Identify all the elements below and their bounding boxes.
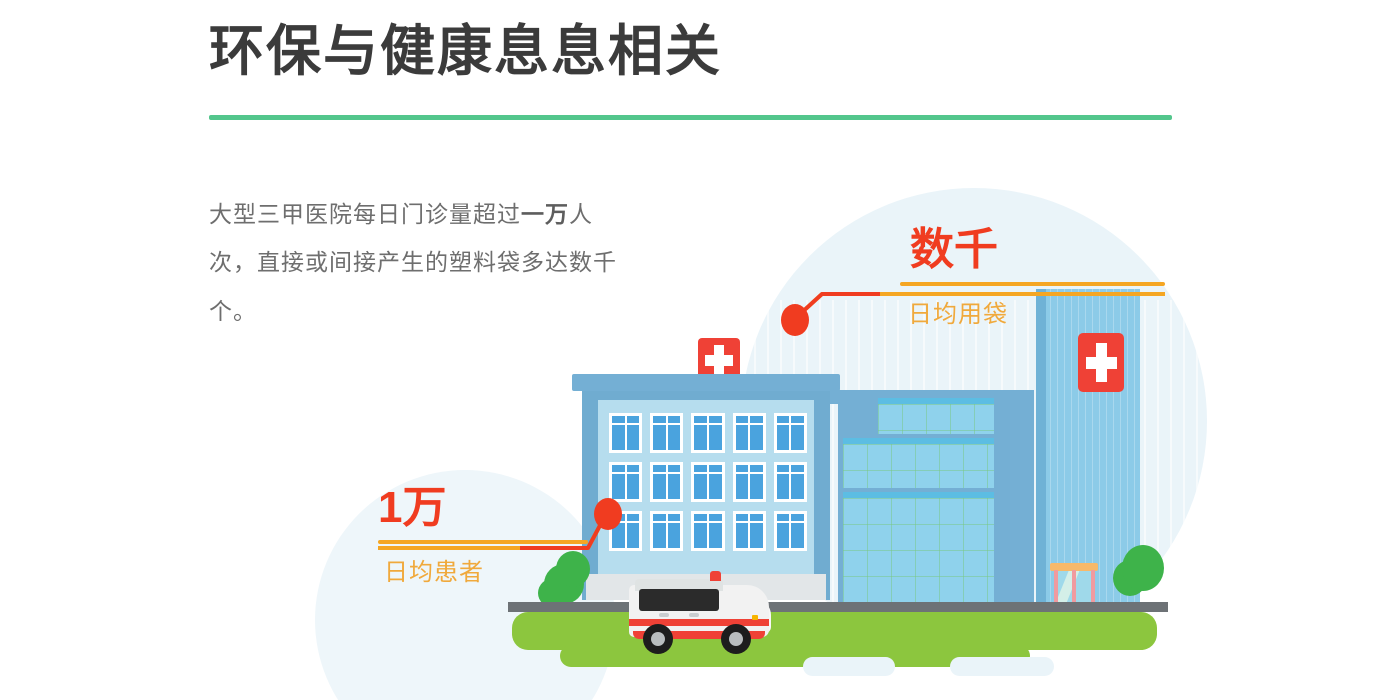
- hospital-illustration: [0, 0, 1400, 700]
- building-window: [733, 462, 766, 502]
- building-window: [733, 511, 766, 551]
- glass-panel-bottom: [843, 492, 994, 609]
- ambulance-door-handle: [659, 613, 669, 617]
- glass-panel-middle: [843, 438, 994, 488]
- ambulance-siren-light: [710, 571, 721, 581]
- ambulance-window: [639, 589, 719, 611]
- callout-bags-rule: [900, 282, 1165, 286]
- callout-patients-rule: [378, 540, 588, 544]
- body-paragraph-run-0: 大型三甲医院每日门诊量超过: [209, 201, 521, 227]
- callout-bags-label: 日均用袋: [900, 294, 1165, 329]
- building-window: [650, 413, 683, 453]
- tree-icon-right: [1122, 545, 1164, 591]
- path-marking: [803, 657, 895, 676]
- cross-horizontal-bar: [1086, 357, 1117, 369]
- tower-entrance: [1050, 563, 1098, 605]
- building-window: [650, 462, 683, 502]
- main-hospital-building: [572, 374, 840, 600]
- ambulance-door-handle: [689, 613, 699, 617]
- callout-patients-value: 1万: [378, 486, 588, 530]
- building-window: [774, 462, 807, 502]
- building-window: [691, 462, 724, 502]
- ambulance-indicator-light: [752, 615, 758, 620]
- entrance-post-middle: [1072, 570, 1076, 605]
- building-window: [650, 511, 683, 551]
- body-paragraph-run-1: 一万: [521, 201, 569, 227]
- tower-edge: [1036, 289, 1046, 603]
- page-title-block: 环保与健康息息相关: [209, 22, 1189, 81]
- slide-canvas: 环保与健康息息相关 大型三甲医院每日门诊量超过一万人次，直接或间接产生的塑料袋多…: [0, 0, 1400, 700]
- building-window: [774, 413, 807, 453]
- window-grid: [609, 413, 807, 551]
- cross-horizontal-bar: [705, 355, 733, 366]
- callout-bags-value: 数千: [900, 228, 1165, 272]
- title-underline-rule: [209, 115, 1172, 120]
- building-window: [733, 413, 766, 453]
- red-cross-icon-tower: [1078, 333, 1124, 392]
- callout-bags: 数千 日均用袋: [900, 228, 1165, 329]
- ambulance-wheel: [721, 624, 751, 654]
- body-paragraph: 大型三甲医院每日门诊量超过一万人次，直接或间接产生的塑料袋多达数千个。: [209, 190, 639, 335]
- main-building-roof: [572, 374, 840, 391]
- callout-patients-label: 日均患者: [378, 552, 588, 587]
- building-window: [691, 413, 724, 453]
- path-marking: [950, 657, 1054, 676]
- entrance-post-left: [1054, 570, 1058, 605]
- glass-panel-top: [878, 398, 994, 434]
- building-window: [774, 511, 807, 551]
- entrance-post-right: [1091, 570, 1095, 605]
- mid-glass-building: [838, 390, 1034, 603]
- building-window: [691, 511, 724, 551]
- ambulance-icon: [625, 569, 777, 662]
- callout-patients: 1万 日均患者: [378, 486, 588, 587]
- building-window: [609, 511, 642, 551]
- road-strip: [508, 602, 1168, 612]
- ambulance-wheel: [643, 624, 673, 654]
- building-window: [609, 462, 642, 502]
- page-title: 环保与健康息息相关: [209, 22, 1189, 81]
- building-window: [609, 413, 642, 453]
